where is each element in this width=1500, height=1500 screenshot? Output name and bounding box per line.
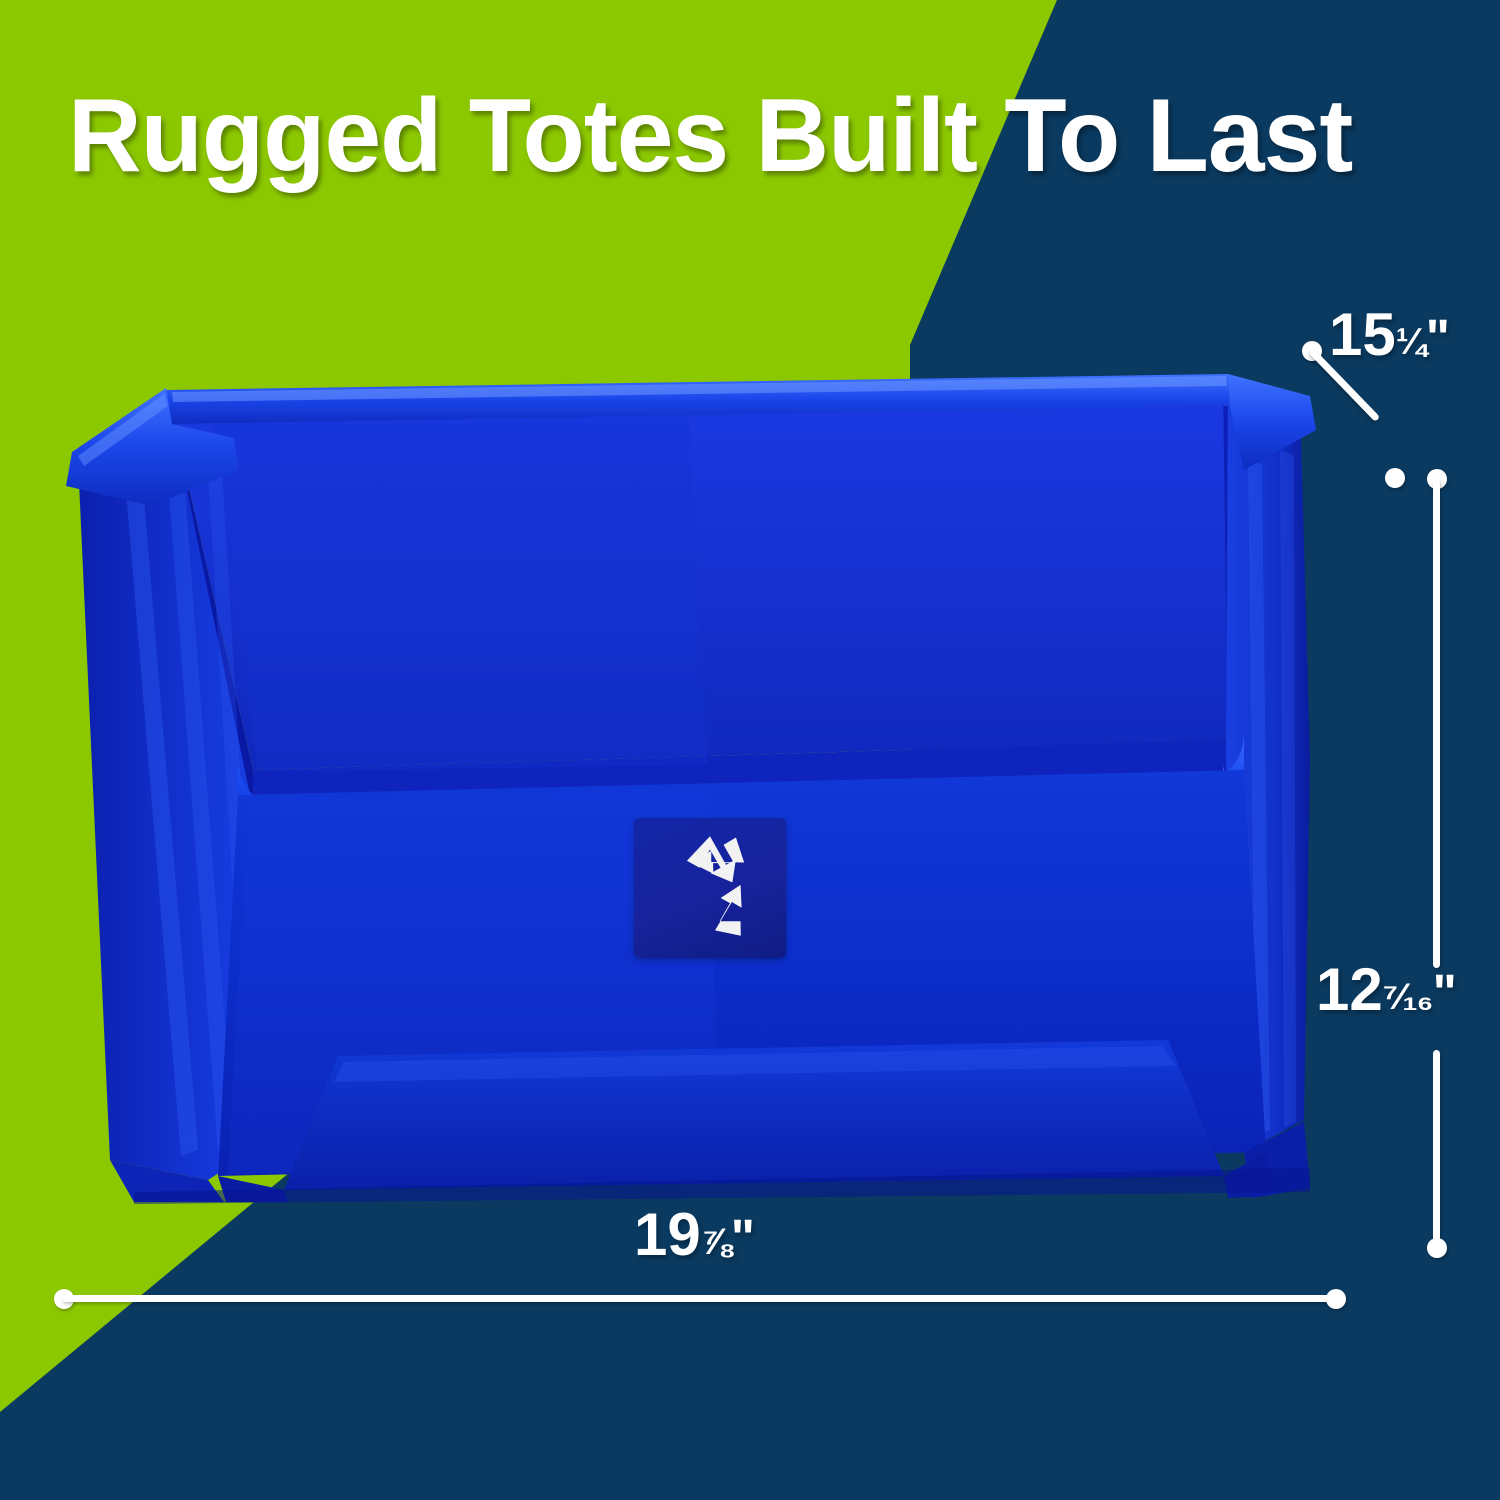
height-line-upper <box>1433 478 1440 968</box>
depth-dimension-label: 15¼" <box>1329 300 1450 369</box>
depth-dot-end <box>1385 468 1405 488</box>
tote-illustration <box>48 340 1338 1220</box>
width-value: 19 <box>634 1201 701 1268</box>
depth-fraction: ¼ <box>1396 320 1426 363</box>
height-dimension-label: 12⁷⁄₁₆" <box>1316 955 1457 1024</box>
height-fraction: ⁷⁄₁₆ <box>1383 975 1433 1018</box>
depth-value: 15 <box>1329 301 1396 368</box>
recycle-icon <box>634 818 786 958</box>
page-title: Rugged Totes Built To Last <box>68 84 1440 188</box>
width-dimension-label: 19⅞" <box>634 1200 755 1269</box>
height-unit: " <box>1433 964 1457 1021</box>
height-dot-bottom <box>1427 1238 1447 1258</box>
recycle-decal <box>634 818 786 958</box>
product-infographic: Rugged Totes Built To Last <box>0 0 1500 1500</box>
width-unit: " <box>731 1209 755 1266</box>
height-value: 12 <box>1316 956 1383 1023</box>
width-line <box>62 1295 1334 1302</box>
width-fraction: ⅞ <box>701 1220 731 1263</box>
width-dot-right <box>1326 1289 1346 1309</box>
height-line-lower <box>1433 1050 1440 1246</box>
tote-interior-shade <box>208 392 708 772</box>
depth-unit: " <box>1426 309 1450 366</box>
product-image-tote <box>48 340 1338 1220</box>
